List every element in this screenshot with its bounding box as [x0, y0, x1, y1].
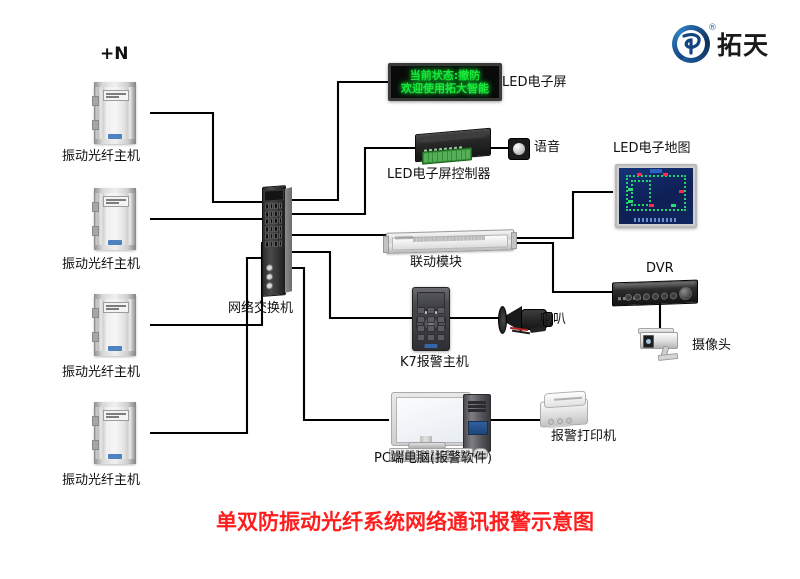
network-switch-label: 网络交换机	[228, 302, 293, 316]
fiber-host-2-label: 振动光纤主机	[62, 258, 140, 272]
brand-logo: 拓天 ®	[672, 25, 769, 63]
led-map[interactable]	[615, 164, 697, 228]
pc-workstation[interactable]	[389, 392, 505, 454]
horn-speaker-label: 喇叭	[540, 313, 566, 327]
linkage-module-label: 联动模块	[410, 256, 462, 270]
pc-workstation-label: PC端电脑(报警软件)	[374, 452, 492, 466]
diagram-canvas: +N 振动光纤主机 振动光纤主机 振动光纤主机	[0, 0, 800, 579]
voice-label: 语音	[534, 141, 560, 155]
dvr[interactable]	[612, 281, 698, 305]
trademark-icon: ®	[708, 23, 717, 33]
led-screen-label: LED电子屏	[502, 76, 566, 90]
fiber-host-1[interactable]	[94, 82, 136, 144]
led-screen-line1: 当前状态:撤防	[410, 69, 480, 82]
brand-emblem-icon	[672, 25, 710, 63]
led-map-label: LED电子地图	[613, 142, 690, 156]
plus-n-label: +N	[100, 45, 128, 64]
alarm-printer-label: 报警打印机	[551, 430, 616, 444]
fiber-host-4[interactable]	[94, 402, 136, 464]
network-switch[interactable]	[262, 186, 286, 296]
camera-label: 摄像头	[692, 339, 731, 353]
led-controller[interactable]	[415, 131, 491, 159]
fiber-host-4-label: 振动光纤主机	[62, 474, 140, 488]
brand-name: 拓天	[717, 26, 769, 62]
k7-alarm-host[interactable]	[412, 287, 450, 351]
alarm-printer[interactable]	[540, 392, 588, 426]
k7-alarm-host-label: K7报警主机	[400, 356, 469, 370]
camera[interactable]	[632, 328, 688, 362]
led-screen[interactable]: 当前状态:撤防 欢迎使用拓大智能	[388, 63, 502, 101]
dvr-label: DVR	[646, 262, 674, 276]
fiber-host-2[interactable]	[94, 188, 136, 250]
voice-module[interactable]	[508, 138, 530, 160]
led-controller-label: LED电子屏控制器	[387, 168, 490, 182]
fiber-host-3-label: 振动光纤主机	[62, 366, 140, 380]
diagram-title: 单双防振动光纤系统网络通讯报警示意图	[216, 506, 594, 536]
fiber-host-3[interactable]	[94, 294, 136, 356]
fiber-host-1-label: 振动光纤主机	[62, 150, 140, 164]
led-screen-line2: 欢迎使用拓大智能	[401, 82, 489, 95]
linkage-module[interactable]	[386, 231, 514, 252]
